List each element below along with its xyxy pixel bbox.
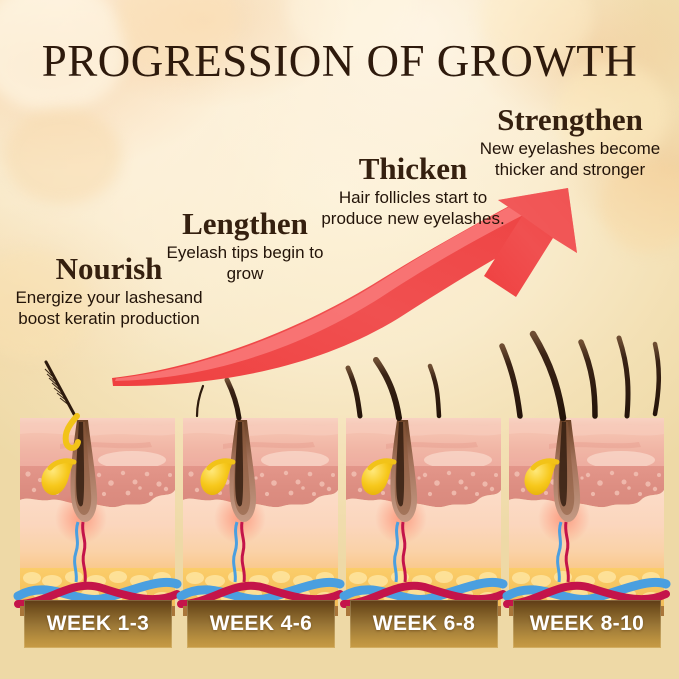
step-strengthen-heading: Strengthen [470,104,670,136]
week-band-label-4: WEEK 8-10 [513,600,661,648]
step-thicken-body: Hair follicles start to produce new eyel… [318,188,508,229]
step-strengthen-body: New eyelashes become thicker and stronge… [470,139,670,180]
step-lengthen: Lengthen Eyelash tips begin to grow [152,208,338,285]
week-label-4: WEEK 8-10 [530,612,644,636]
week-label-1: WEEK 1-3 [47,612,149,636]
week-band-label-3: WEEK 6-8 [350,600,498,648]
step-lengthen-body: Eyelash tips begin to grow [152,243,338,284]
step-nourish-body: Energize your lashesand boost keratin pr… [14,288,204,329]
week-band-label-2: WEEK 4-6 [187,600,335,648]
step-strengthen: Strengthen New eyelashes become thicker … [470,104,670,181]
step-lengthen-heading: Lengthen [152,208,338,240]
infographic-root: PROGRESSION OF GROWTH [0,0,679,679]
week-band-label-1: WEEK 1-3 [24,600,172,648]
week-label-3: WEEK 6-8 [373,612,475,636]
week-label-2: WEEK 4-6 [210,612,312,636]
